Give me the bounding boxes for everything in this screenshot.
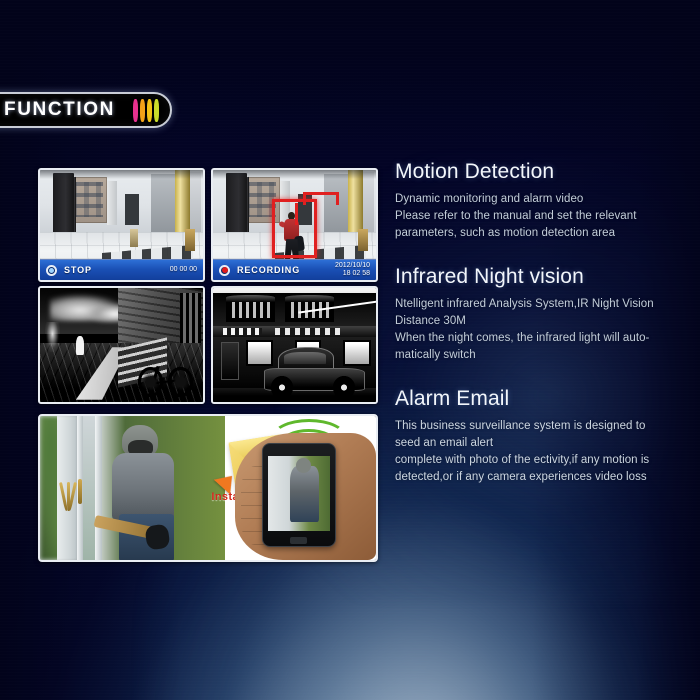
scene-right-panel (151, 174, 175, 235)
night-door (221, 342, 239, 381)
function-banner-bars (133, 98, 170, 122)
feature-block-infrared-night-vision: Infrared Night vision Ntelligent infrare… (395, 265, 695, 364)
scene-ceiling-shadow (40, 170, 203, 179)
scene-doorbox (125, 194, 140, 225)
scene-statue-right (358, 229, 368, 251)
night-signage-band (213, 326, 376, 337)
feature-copy-column: Motion Detection Dynamic monitoring and … (395, 160, 695, 509)
scene-statue-right (185, 229, 195, 251)
feature-heading: Motion Detection (395, 160, 695, 184)
feature-heading: Infrared Night vision (395, 265, 695, 289)
status-time: 18 02 58 (343, 270, 370, 277)
night-vision-row (38, 286, 378, 404)
photo-door-handle (78, 479, 82, 503)
night-bicycle (138, 356, 193, 397)
photo-intruder (107, 425, 196, 560)
status-bar-stop: STOP 00 00 00 (40, 259, 203, 280)
night-scene-building (213, 288, 376, 402)
motion-detection-box (272, 199, 318, 258)
scene-pillar (107, 181, 117, 225)
banner-bar-4 (154, 99, 159, 122)
status-timecode: 00 00 00 (170, 266, 197, 274)
feature-body: Ntelligent infrared Analysis System,IR N… (395, 296, 695, 364)
feature-block-alarm-email: Alarm Email This business surveillance s… (395, 387, 695, 486)
night-vision-panel-building[interactable] (211, 286, 378, 404)
night-parked-car (264, 347, 365, 397)
function-banner-title: FUNCTION (0, 99, 133, 121)
status-bar-recording: RECORDING 2012/10/10 18 02 58 (213, 259, 376, 280)
status-date: 2012/10/10 (335, 262, 370, 269)
feature-body: This business surveillance system is des… (395, 418, 695, 486)
stop-dot-icon (46, 265, 57, 276)
banner-bar-1 (133, 99, 138, 122)
photo-keys-icon (62, 482, 75, 511)
banner-bar-2 (140, 99, 145, 122)
status-datetime: 2012/10/10 18 02 58 (335, 262, 370, 278)
night-figure (76, 336, 84, 355)
camera-panel-recording[interactable]: RECORDING 2012/10/10 18 02 58 (211, 168, 378, 282)
feature-body: Dynamic monitoring and alarm videoPlease… (395, 191, 695, 242)
function-banner: FUNCTION (0, 92, 172, 128)
night-balcony-left (226, 294, 275, 323)
night-street-lamp (45, 322, 60, 352)
photo-door-frame-2 (95, 416, 101, 560)
photo-glass-middle (83, 416, 96, 560)
phone-screen (268, 456, 330, 531)
phone-home-button (290, 537, 307, 544)
alarm-email-scene: Instant Email (40, 416, 376, 560)
feature-heading: Alarm Email (395, 387, 695, 411)
record-dot-icon (219, 265, 230, 276)
burglar-photo (40, 416, 225, 560)
camera-panel-stop[interactable]: STOP 00 00 00 (38, 168, 205, 282)
night-vision-panel-alley[interactable] (38, 286, 205, 404)
smartphone (262, 443, 336, 547)
alarm-email-panel[interactable]: Instant Email (38, 414, 378, 562)
scene-ceiling-shadow (213, 170, 376, 179)
banner-bar-3 (147, 99, 152, 122)
media-column: STOP 00 00 00 (38, 168, 378, 562)
phone-screen-alert-photo (290, 466, 318, 522)
status-label: STOP (64, 265, 170, 275)
status-label: RECORDING (237, 265, 335, 275)
scene-statue (130, 229, 138, 247)
camera-preview-row: STOP 00 00 00 (38, 168, 378, 282)
night-scene-alley (40, 288, 203, 402)
feature-block-motion-detection: Motion Detection Dynamic monitoring and … (395, 160, 695, 242)
